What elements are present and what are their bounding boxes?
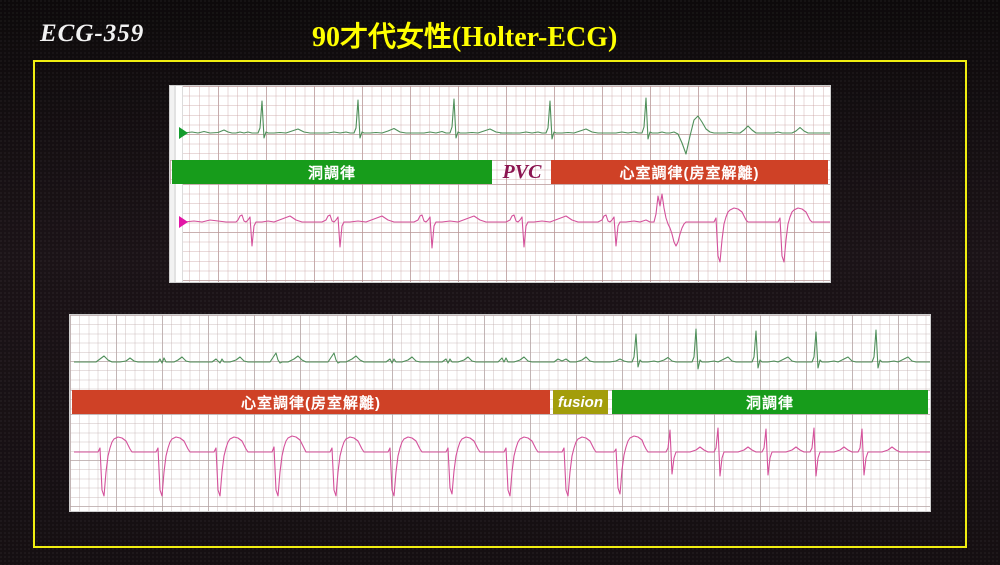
ecg-trace-upper-channel-1 (170, 86, 830, 160)
ecg-case-code: ECG-359 (40, 20, 144, 48)
annotation-bar-fusion[interactable]: fusion (553, 390, 608, 414)
annotation-label-pvc[interactable]: PVC (494, 160, 550, 184)
green-triangle-marker (179, 127, 188, 139)
ecg-panel-upper: 洞調律 PVC 心室調律(房室解離) (170, 86, 830, 282)
annotation-bar-sinus-upper[interactable]: 洞調律 (172, 160, 492, 184)
annotation-bar-ventricular-lower[interactable]: 心室調律(房室解離) (72, 390, 550, 414)
ecg-slide: ECG-359 90才代女性(Holter-ECG) 洞調律 PVC 心室調律(… (0, 0, 1000, 565)
ecg-strip-upper-channel-1 (170, 86, 830, 160)
ecg-strip-lower-channel-2 (70, 414, 930, 511)
ecg-trace-lower-channel-2 (70, 414, 930, 511)
page-title: 90才代女性(Holter-ECG) (312, 15, 617, 55)
ecg-trace-lower-channel-1 (70, 315, 930, 390)
annotation-bar-ventricular-upper[interactable]: 心室調律(房室解離) (551, 160, 828, 184)
ecg-strip-upper-channel-2 (170, 184, 830, 282)
ecg-trace-upper-channel-2 (170, 184, 830, 282)
annotation-row-lower: 心室調律(房室解離) fusion 洞調律 (70, 390, 930, 414)
annotation-bar-sinus-lower[interactable]: 洞調律 (612, 390, 928, 414)
magenta-triangle-marker (179, 216, 188, 228)
ecg-panel-lower: 心室調律(房室解離) fusion 洞調律 (70, 315, 930, 511)
ecg-strip-lower-channel-1 (70, 315, 930, 390)
annotation-row-upper: 洞調律 PVC 心室調律(房室解離) (170, 160, 830, 184)
